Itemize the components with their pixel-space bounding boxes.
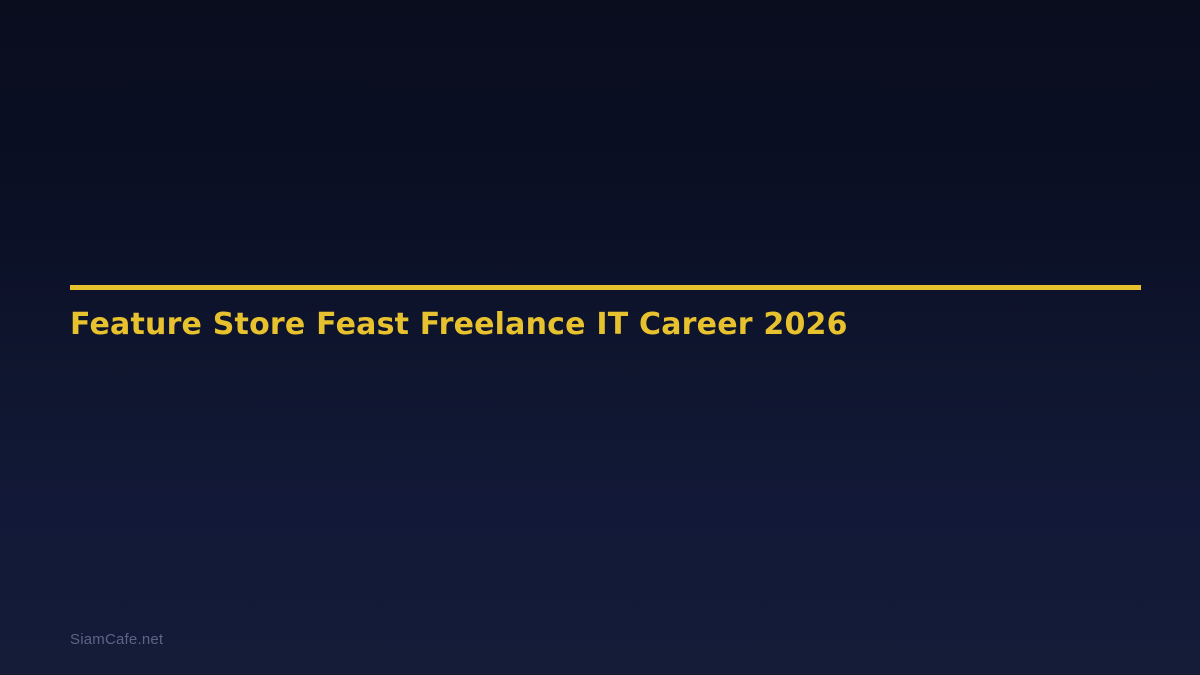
accent-rule — [70, 285, 1141, 290]
footer-brand: SiamCafe.net — [70, 629, 163, 650]
title-block: Feature Store Feast Freelance IT Career … — [70, 285, 1141, 290]
presentation-slide: Feature Store Feast Freelance IT Career … — [0, 0, 1200, 675]
page-title: Feature Store Feast Freelance IT Career … — [70, 306, 848, 344]
